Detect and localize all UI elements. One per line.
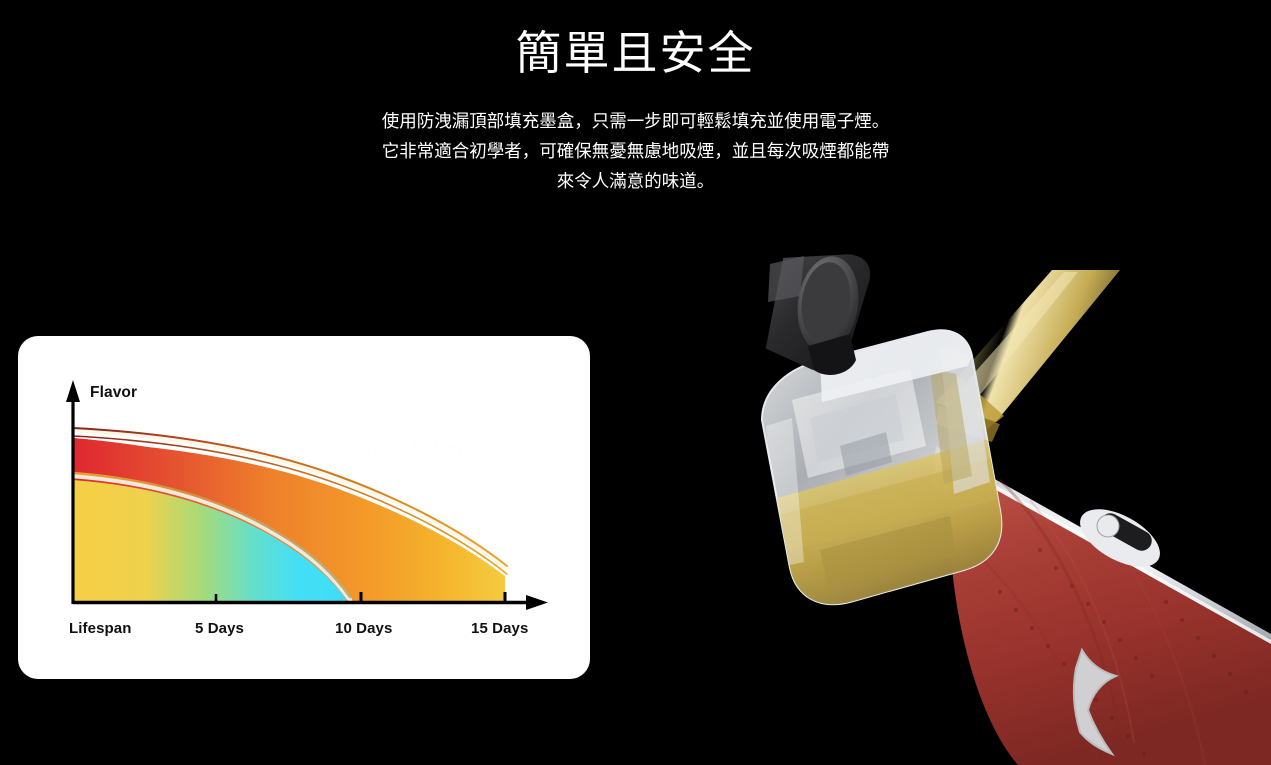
- chart-watermark: Up to 15 Days: [360, 437, 474, 457]
- page-title: 簡單且安全: [0, 22, 1271, 84]
- vape-device-illustration: [700, 250, 1271, 765]
- description-line-1: 使用防洩漏頂部填充墨盒，只需一步即可輕鬆填充並使用電子煙。: [336, 106, 936, 136]
- product-image-vape-device: [700, 250, 1271, 765]
- chart-x-axis-labels: Lifespan 5 Days 10 Days 15 Days: [18, 620, 590, 650]
- x-tick-label-10-days: 10 Days: [335, 620, 392, 637]
- page-description: 使用防洩漏頂部填充墨盒，只需一步即可輕鬆填充並使用電子煙。 它非常適合初學者，可…: [336, 106, 936, 196]
- header-section: 簡單且安全 使用防洩漏頂部填充墨盒，只需一步即可輕鬆填充並使用電子煙。 它非常適…: [0, 0, 1271, 196]
- x-tick-label-15-days: 15 Days: [471, 620, 528, 637]
- description-line-2: 它非常適合初學者，可確保無憂無慮地吸煙，並且每次吸煙都能帶: [336, 136, 936, 166]
- chart-y-axis-label: Flavor: [90, 384, 137, 402]
- page-root: 簡單且安全 使用防洩漏頂部填充墨盒，只需一步即可輕鬆填充並使用電子煙。 它非常適…: [0, 0, 1271, 765]
- x-tick-label-5-days: 5 Days: [195, 620, 244, 637]
- x-tick-label-lifespan: Lifespan: [69, 620, 131, 637]
- description-line-3: 來令人滿意的味道。: [336, 166, 936, 196]
